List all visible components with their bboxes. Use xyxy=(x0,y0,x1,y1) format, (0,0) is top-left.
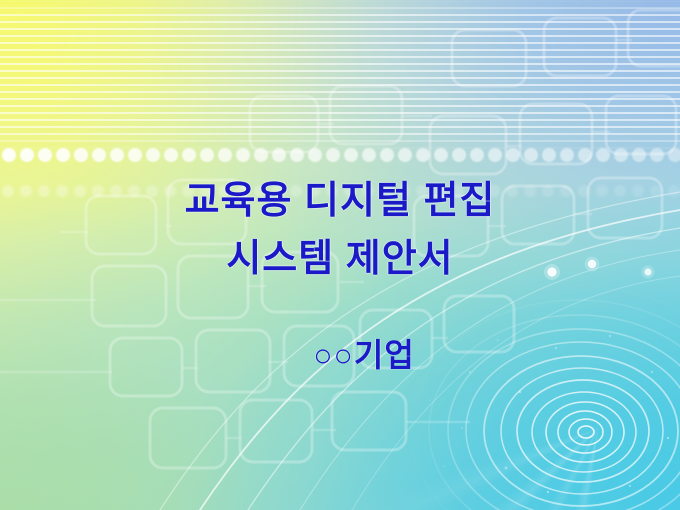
slide-content: 교육용 디지털 편집 시스템 제안서 ○○기업 xyxy=(0,0,680,510)
title-line-2: 시스템 제안서 xyxy=(0,230,680,288)
title-slide: 교육용 디지털 편집 시스템 제안서 ○○기업 xyxy=(0,0,680,510)
title-line-1: 교육용 디지털 편집 xyxy=(0,172,680,230)
slide-subtitle: ○○기업 xyxy=(0,330,680,376)
subtitle-company-name: ○○기업 xyxy=(313,330,415,376)
slide-title: 교육용 디지털 편집 시스템 제안서 xyxy=(0,172,680,288)
